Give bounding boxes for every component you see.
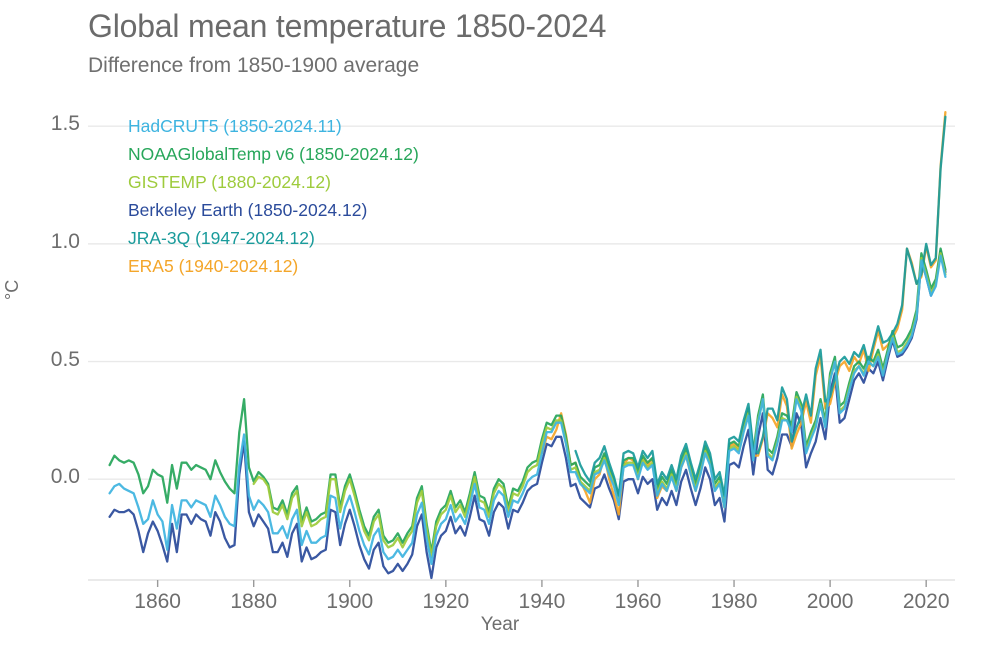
x-tick-label: 1920 (406, 590, 486, 614)
x-tick-label: 1940 (502, 590, 582, 614)
legend-item-era5[interactable]: ERA5 (1940-2024.12) (128, 252, 419, 280)
legend-item-gistemp[interactable]: GISTEMP (1880-2024.12) (128, 168, 419, 196)
series-line-era5 (542, 112, 945, 514)
y-tick-label: 0.0 (24, 465, 80, 489)
series-line-jra-3q (576, 117, 946, 496)
legend-item-jra-3q[interactable]: JRA-3Q (1947-2024.12) (128, 224, 419, 252)
x-tick-label: 2020 (886, 590, 966, 614)
x-tick-label: 2000 (790, 590, 870, 614)
x-tick-label: 1960 (598, 590, 678, 614)
legend-item-noaaglobaltemp[interactable]: NOAAGlobalTemp v6 (1850-2024.12) (128, 140, 419, 168)
legend-item-hadcrut5[interactable]: HadCRUT5 (1850-2024.11) (128, 112, 419, 140)
y-tick-label: 1.0 (24, 230, 80, 254)
page-subtitle: Difference from 1850-1900 average (88, 54, 419, 78)
y-tick-label: 1.5 (24, 112, 80, 136)
page-title: Global mean temperature 1850-2024 (88, 8, 606, 45)
legend: HadCRUT5 (1850-2024.11)NOAAGlobalTemp v6… (128, 112, 419, 280)
y-axis-label: °C (2, 280, 23, 300)
x-tick-label: 1860 (118, 590, 198, 614)
y-tick-label: 0.5 (24, 348, 80, 372)
x-tick-label: 1900 (310, 590, 390, 614)
series-line-berkeley-earth (110, 251, 946, 578)
x-axis-label: Year (0, 614, 1000, 636)
x-tick-label: 1980 (694, 590, 774, 614)
series-line-hadcrut5 (110, 256, 946, 564)
legend-item-berkeley[interactable]: Berkeley Earth (1850-2024.12) (128, 196, 419, 224)
x-tick-label: 1880 (214, 590, 294, 614)
global-temperature-chart: Global mean temperature 1850-2024 Differ… (0, 0, 1000, 657)
